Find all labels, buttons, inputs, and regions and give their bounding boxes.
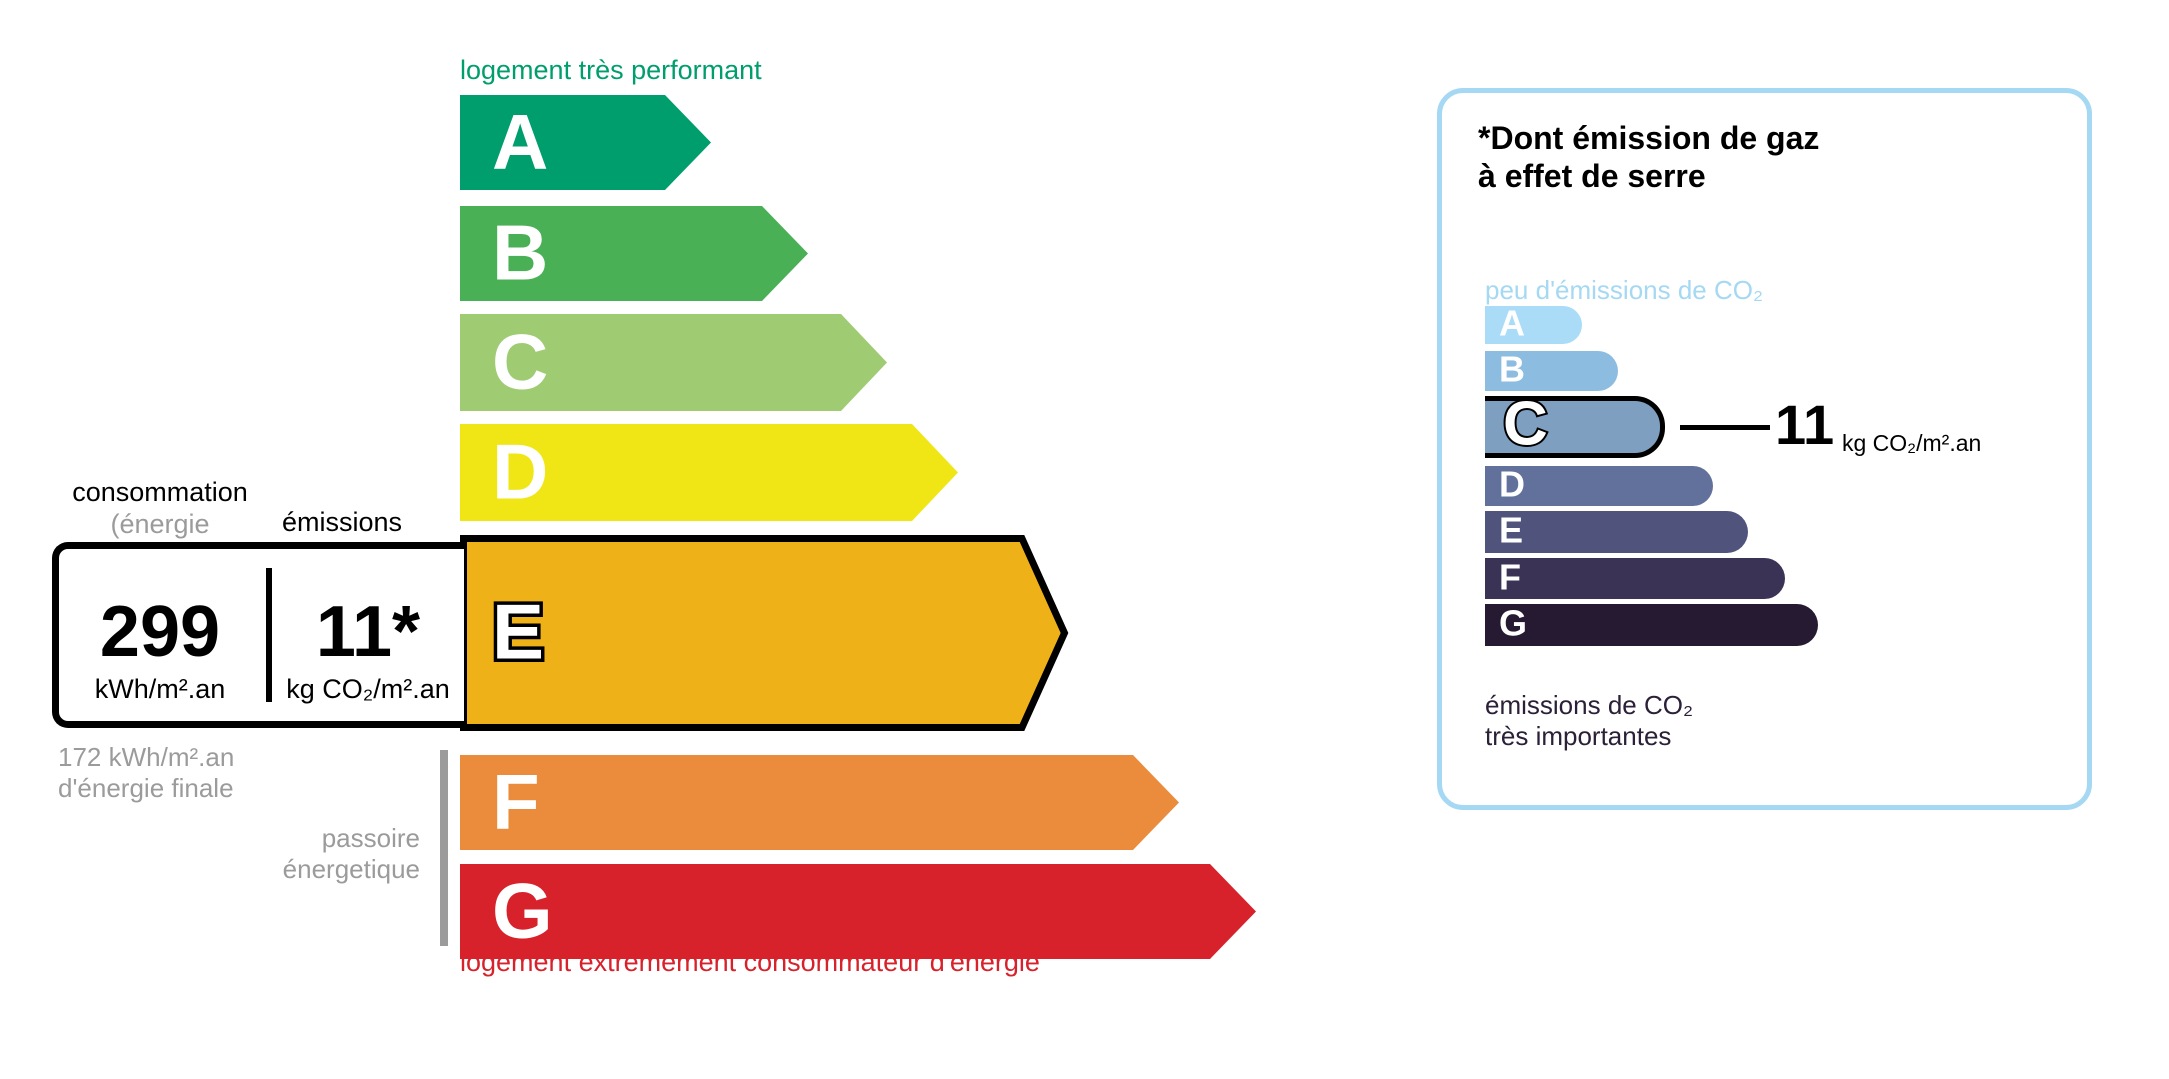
co2-top-caption: peu d'émissions de CO₂ (1485, 275, 1763, 306)
consumption-label-main: consommation (60, 477, 260, 509)
co2-bar-letter-a: A (1499, 306, 1525, 342)
co2-bottom-caption: émissions de CO₂ très importantes (1485, 690, 1693, 752)
co2-bottom-caption-line2: très importantes (1485, 721, 1693, 752)
co2-value-cell: 11* kg CO₂/m².an (275, 596, 461, 705)
co2-bar-d: D (1485, 466, 1713, 506)
co2-panel-title: *Dont émission de gaz à effet de serre (1478, 120, 1819, 196)
co2-value: 11* (275, 596, 461, 668)
passoire-divider (440, 750, 448, 946)
energy-band-d: D (460, 424, 958, 521)
passoire-label-line1: passoire (170, 823, 420, 854)
co2-bar-g: G (1485, 604, 1818, 646)
final-energy-label: 172 kWh/m².an d'énergie finale (58, 742, 234, 804)
energy-band-a: A (460, 95, 711, 190)
energy-band-f: F (460, 755, 1179, 850)
co2-bar-letter-e: E (1499, 513, 1523, 549)
co2-unit: kg CO₂/m².an (275, 674, 461, 705)
energy-band-shape-f (460, 755, 1179, 850)
co2-panel-title-line2: à effet de serre (1478, 158, 1819, 196)
co2-bar-letter-b: B (1499, 352, 1525, 388)
co2-callout-value: 11 (1775, 397, 1834, 453)
co2-bar-f: F (1485, 558, 1785, 599)
co2-bar-b: B (1485, 351, 1618, 391)
final-energy-value: 172 kWh/m².an (58, 742, 234, 773)
energy-band-letter-a: A (492, 102, 548, 180)
energy-band-letter-e: E (492, 592, 544, 670)
co2-bar-letter-g: G (1499, 606, 1527, 642)
passoire-label-line2: énergetique (170, 854, 420, 885)
scale-bottom-caption: logement extrêmement consommateur d'éner… (460, 947, 1040, 978)
energy-band-letter-g: G (492, 871, 553, 949)
energy-band-shape-e (460, 535, 1068, 731)
co2-panel-title-line1: *Dont émission de gaz (1478, 120, 1819, 158)
co2-bar-c: C (1485, 396, 1665, 458)
energy-band-c: C (460, 314, 887, 411)
energy-band-letter-c: C (492, 322, 548, 400)
energy-unit: kWh/m².an (60, 674, 260, 705)
energy-band-b: B (460, 206, 808, 301)
energy-band-e: E (460, 535, 1068, 731)
value-box-divider (266, 568, 272, 702)
energy-band-g: G (460, 864, 1256, 959)
co2-callout-unit: kg CO₂/m².an (1842, 430, 1981, 457)
energy-band-letter-d: D (492, 432, 548, 510)
scale-top-caption: logement très performant (460, 55, 762, 86)
energy-value-cell: 299 kWh/m².an (60, 596, 260, 705)
co2-bar-a: A (1485, 306, 1582, 344)
energy-band-letter-b: B (492, 213, 548, 291)
final-energy-text: d'énergie finale (58, 773, 234, 804)
co2-bar-letter-f: F (1499, 559, 1521, 595)
energy-band-letter-f: F (492, 762, 540, 840)
co2-bar-letter-c: C (1503, 394, 1548, 456)
co2-callout-leader (1680, 425, 1770, 430)
emissions-label: émissions (282, 507, 402, 538)
energy-band-shape-g (460, 864, 1256, 959)
passoire-label: passoire énergetique (170, 823, 420, 885)
co2-bar-letter-d: D (1499, 467, 1525, 503)
energy-value: 299 (60, 596, 260, 668)
co2-bottom-caption-line1: émissions de CO₂ (1485, 690, 1693, 721)
dpe-label: logement très performant ABCDEFG logemen… (0, 0, 2169, 1079)
co2-bar-e: E (1485, 511, 1748, 553)
